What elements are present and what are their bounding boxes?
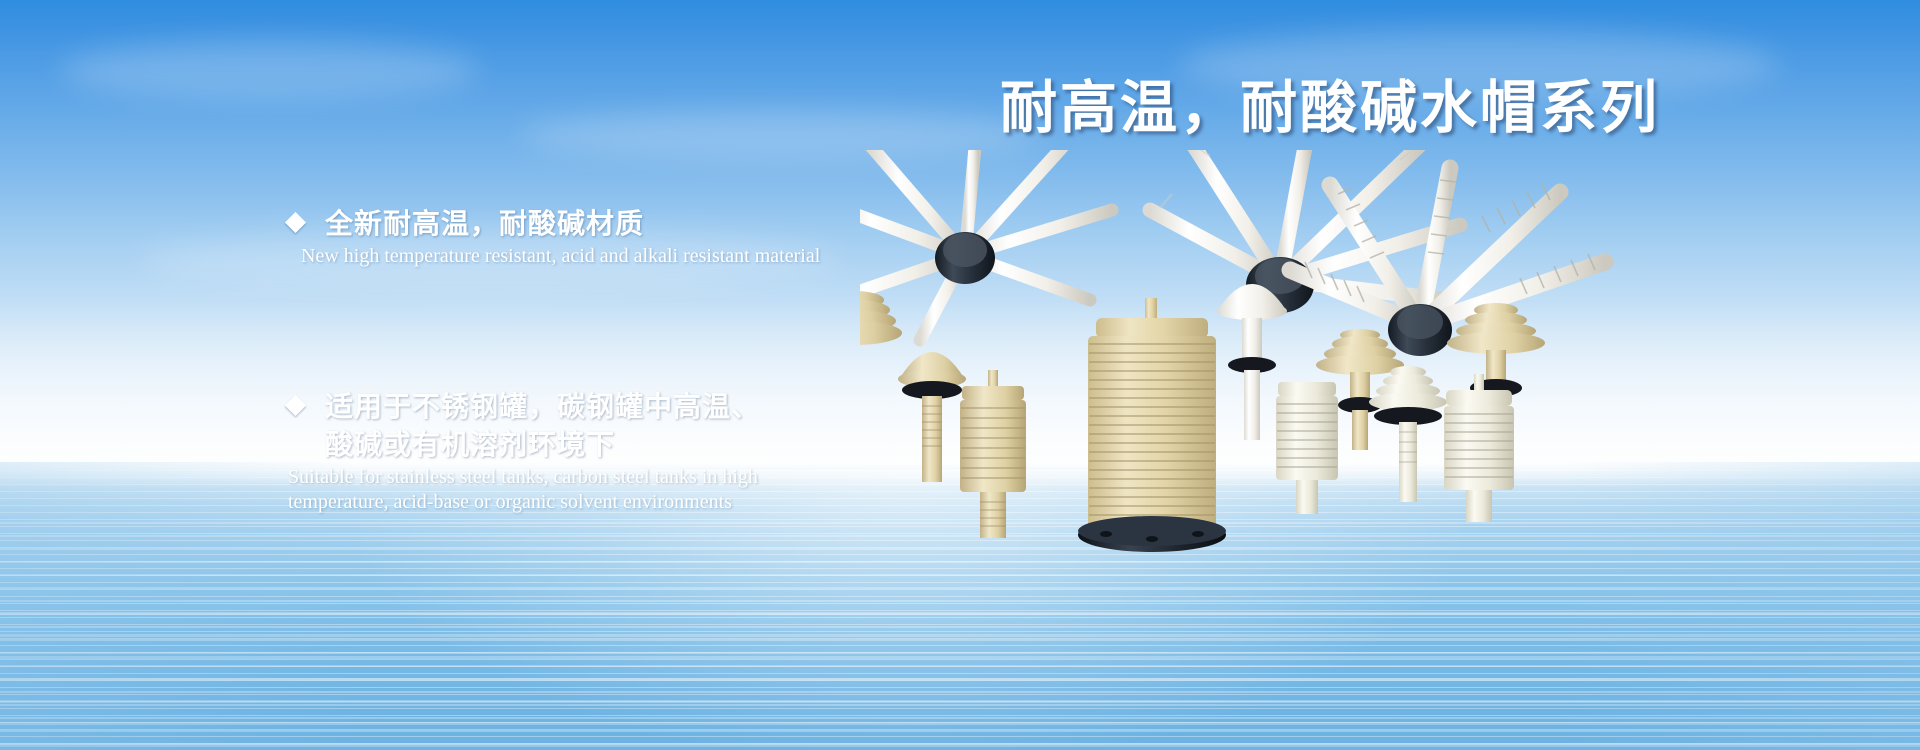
water-cap-product-cluster <box>860 150 1920 570</box>
promo-banner: 耐高温，耐酸碱水帽系列 全新耐高温，耐酸碱材质 New high tempera… <box>0 0 1920 750</box>
feature-bullet-2-cn-line-1: 适用于不锈钢罐，碳钢罐中高温、 <box>325 388 760 426</box>
ribbed-cylinder-nozzle-1 <box>960 370 1026 538</box>
radial-arm-assembly-right <box>1150 150 1460 313</box>
stepped-dome-nozzle-a <box>860 291 902 410</box>
diamond-bullet-icon <box>285 395 306 416</box>
feature-bullet-1-cn: 全新耐高温，耐酸碱材质 <box>325 205 644 243</box>
radial-arm-assembly-left <box>860 150 1112 340</box>
feature-bullet-1-en-line-1: New high temperature resistant, acid and… <box>301 244 820 269</box>
feature-bullet-2-en-line-2: temperature, acid-base or organic solven… <box>288 490 760 515</box>
large-ribbed-filter-nozzle <box>1078 298 1226 552</box>
mushroom-cap-nozzle-1 <box>898 352 966 482</box>
feature-bullet-1: 全新耐高温，耐酸碱材质 New high temperature resista… <box>288 205 820 269</box>
feature-bullet-2: 适用于不锈钢罐，碳钢罐中高温、 酸碱或有机溶剂环境下 Suitable for … <box>288 388 760 515</box>
feature-bullet-2-en-line-1: Suitable for stainless steel tanks, carb… <box>288 465 760 490</box>
feature-bullet-2-cn-line-2: 酸碱或有机溶剂环境下 <box>325 426 760 464</box>
ivory-ribbed-drum-far-right <box>1444 368 1514 522</box>
diamond-bullet-icon <box>285 212 306 233</box>
page-title: 耐高温，耐酸碱水帽系列 <box>1000 62 1660 144</box>
water-ripples-coarse <box>0 612 1920 750</box>
